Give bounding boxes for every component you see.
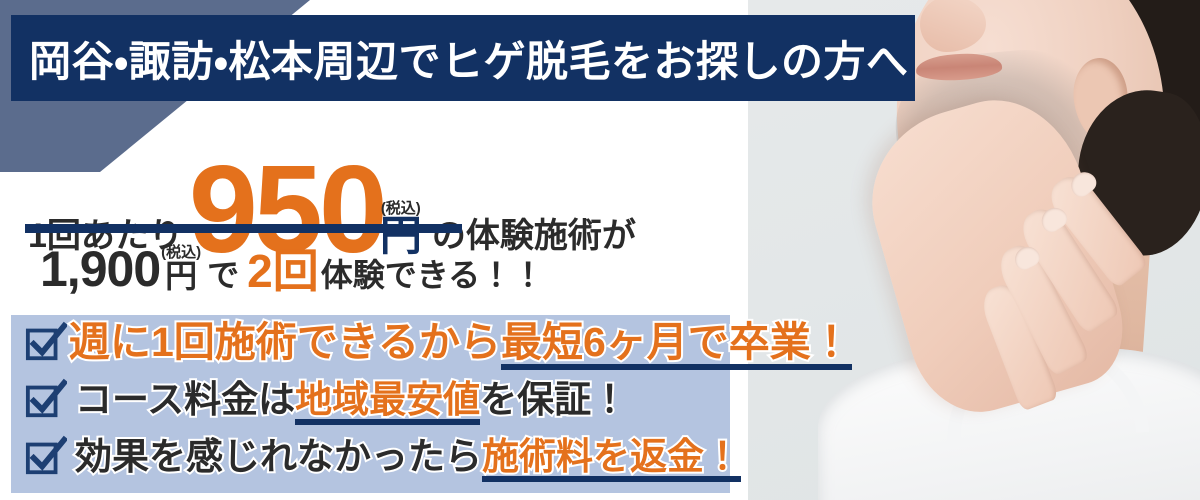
checkbox-checked-icon — [25, 321, 67, 363]
session-count-label: 2回 — [247, 248, 319, 294]
price-amount-total: 1,900 — [40, 244, 160, 294]
price-tail-label: 体験できる！！ — [321, 259, 544, 294]
checkbox-checked-icon — [25, 435, 67, 477]
benefit-item-3: 効果を感じれなかったら施術料を返金！ — [25, 435, 741, 477]
benefit-text-3: 効果を感じれなかったら施術料を返金！ — [75, 438, 741, 475]
benefit-3-underlined: 施術料を返金！ — [482, 438, 741, 475]
benefit-text-2: コース料金は地域最安値を保証！ — [75, 381, 628, 418]
benefit-2-plain-start: コース料金は — [75, 379, 295, 420]
benefit-2-underlined: 地域最安値 — [295, 381, 480, 418]
benefit-item-1: 週に1回施術できるから最短6ヶ月で卒業！ — [25, 321, 852, 363]
price-currency-group-2: (税込) 円 — [161, 245, 201, 294]
checkbox-checked-icon — [25, 378, 67, 420]
price-connector-label: で — [207, 259, 239, 294]
price-section: 1回あたり 950 (税込) 円 の体験施術が 1,900 (税込) 円 で 2… — [0, 112, 740, 308]
price-underline-rule — [25, 224, 462, 233]
benefit-item-2: コース料金は地域最安値を保証！ — [25, 378, 628, 420]
promo-banner: 岡谷・諏訪・松本周辺でヒゲ脱毛をお探しの方へ 1回あたり 950 (税込) 円 … — [0, 0, 1200, 500]
yen-symbol-2: 円 — [165, 260, 197, 292]
benefit-1-underlined: 最短6ヶ月で卒業！ — [501, 322, 852, 363]
benefit-1-middle: できるから — [297, 319, 501, 365]
benefit-1-highlight: 週に1回施術 — [69, 319, 297, 365]
benefit-2-plain-end: を保証！ — [480, 379, 628, 420]
benefit-text-1: 週に1回施術できるから最短6ヶ月で卒業！ — [69, 322, 852, 363]
header-bar: 岡谷・諏訪・松本周辺でヒゲ脱毛をお探しの方へ — [11, 15, 915, 101]
benefits-panel: 週に1回施術できるから最短6ヶ月で卒業！ コース料金は地域最安値を保証！ 効果を… — [11, 315, 730, 493]
price-line-secondary: 1,900 (税込) 円 で 2回 体験できる！！ — [40, 244, 544, 294]
page-title: 岡谷・諏訪・松本周辺でヒゲ脱毛をお探しの方へ — [29, 28, 909, 89]
benefit-3-plain-start: 効果を感じれなかったら — [75, 436, 482, 477]
